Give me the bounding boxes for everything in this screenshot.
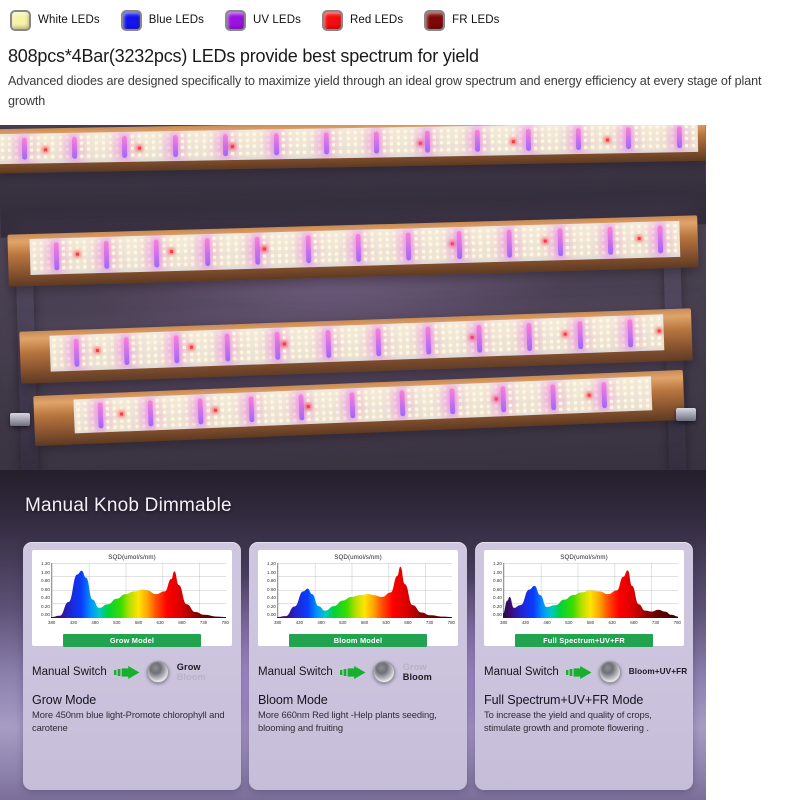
manual-switch-label: Manual Switch bbox=[258, 666, 333, 678]
uv-blue-glow-strip bbox=[299, 394, 305, 420]
y-tick-label: 1.00 bbox=[41, 571, 50, 576]
x-tick-label: 480 bbox=[543, 620, 550, 625]
uv-blue-glow-strip bbox=[273, 133, 278, 155]
x-tick-label: 480 bbox=[91, 620, 98, 625]
x-tick-label: 430 bbox=[522, 620, 529, 625]
x-tick-label: 780 bbox=[222, 620, 229, 625]
uv-blue-glow-strip bbox=[374, 131, 379, 153]
x-tick-label: 380 bbox=[274, 620, 281, 625]
led-swatch-fr bbox=[424, 10, 445, 31]
uv-blue-glow-strip bbox=[577, 321, 583, 349]
manual-switch-label: Manual Switch bbox=[32, 666, 107, 678]
y-tick-label: 0.00 bbox=[267, 613, 276, 618]
mode-card[interactable]: SQD(umol/s/nm)1.201.000.800.600.400.200.… bbox=[475, 542, 693, 790]
chart-x-axis: 380430480530580630680730780 bbox=[500, 620, 681, 625]
led-swatch-blue bbox=[121, 10, 142, 31]
uv-blue-glow-strip bbox=[248, 396, 254, 422]
mode-title: Bloom Mode bbox=[258, 693, 458, 707]
diode-array bbox=[73, 376, 652, 433]
uv-blue-glow-strip bbox=[525, 129, 530, 151]
uv-blue-glow-strip bbox=[224, 333, 230, 361]
led-bar bbox=[19, 308, 692, 383]
uv-blue-glow-strip bbox=[607, 227, 613, 255]
legend-item: UV LEDs bbox=[225, 10, 301, 31]
x-tick-label: 630 bbox=[157, 620, 164, 625]
page-title: 808pcs*4Bar(3232pcs) LEDs provide best s… bbox=[8, 46, 788, 67]
y-tick-label: 0.20 bbox=[41, 605, 50, 610]
x-tick-label: 580 bbox=[587, 620, 594, 625]
y-tick-label: 0.00 bbox=[493, 613, 502, 618]
uv-blue-glow-strip bbox=[73, 339, 79, 367]
y-tick-label: 1.20 bbox=[41, 562, 50, 567]
uv-blue-glow-strip bbox=[122, 136, 127, 158]
uv-blue-glow-strip bbox=[154, 239, 160, 267]
spectrum-chart: SQD(umol/s/nm)1.201.000.800.600.400.200.… bbox=[484, 550, 684, 646]
x-tick-label: 680 bbox=[404, 620, 411, 625]
uv-blue-glow-strip bbox=[425, 131, 430, 153]
chart-plot-area: 1.201.000.800.600.400.200.00380430480530… bbox=[261, 562, 455, 628]
x-tick-label: 380 bbox=[48, 620, 55, 625]
uv-blue-glow-strip bbox=[399, 390, 405, 416]
uv-blue-glow-strip bbox=[475, 130, 480, 152]
mode-description: To increase the yield and quality of cro… bbox=[484, 709, 684, 735]
x-tick-label: 580 bbox=[135, 620, 142, 625]
arrow-right-icon bbox=[566, 666, 592, 679]
knob-labels: Bloom+UV+FR bbox=[629, 667, 687, 676]
x-tick-label: 530 bbox=[339, 620, 346, 625]
y-tick-label: 0.20 bbox=[493, 605, 502, 610]
uv-blue-glow-strip bbox=[198, 398, 204, 424]
legend-item: White LEDs bbox=[10, 10, 100, 31]
uv-blue-glow-strip bbox=[174, 335, 180, 363]
mode-model-button[interactable]: Grow Model bbox=[63, 634, 201, 647]
uv-blue-glow-strip bbox=[626, 127, 631, 149]
x-tick-label: 730 bbox=[426, 620, 433, 625]
chart-x-axis: 380430480530580630680730780 bbox=[48, 620, 229, 625]
uv-blue-glow-strip bbox=[627, 319, 633, 347]
dimmer-knob[interactable] bbox=[373, 661, 395, 683]
diode-array bbox=[0, 125, 698, 164]
uv-blue-glow-strip bbox=[204, 238, 210, 266]
chart-title: SQD(umol/s/nm) bbox=[261, 554, 455, 561]
uv-blue-glow-strip bbox=[557, 228, 563, 256]
x-tick-label: 580 bbox=[361, 620, 368, 625]
uv-blue-glow-strip bbox=[507, 230, 513, 258]
legend-item-label: White LEDs bbox=[38, 14, 100, 26]
uv-blue-glow-strip bbox=[677, 126, 682, 148]
uv-blue-glow-strip bbox=[526, 323, 532, 351]
x-tick-label: 630 bbox=[609, 620, 616, 625]
y-tick-label: 0.20 bbox=[267, 605, 276, 610]
dimmer-knob[interactable] bbox=[147, 661, 169, 683]
mode-description: More 450nm blue light-Promote chlorophyl… bbox=[32, 709, 232, 735]
uv-blue-glow-strip bbox=[500, 386, 506, 412]
diode-array bbox=[49, 314, 664, 371]
y-tick-label: 0.00 bbox=[41, 613, 50, 618]
uv-blue-glow-strip bbox=[148, 400, 154, 426]
uv-blue-glow-strip bbox=[104, 241, 110, 269]
legend-item: Red LEDs bbox=[322, 10, 403, 31]
knob-labels: GrowBloom bbox=[403, 662, 432, 683]
uv-blue-glow-strip bbox=[658, 225, 664, 253]
uv-blue-glow-strip bbox=[275, 332, 281, 360]
x-tick-label: 730 bbox=[652, 620, 659, 625]
uv-blue-glow-strip bbox=[324, 132, 329, 154]
y-tick-label: 0.40 bbox=[41, 596, 50, 601]
y-tick-label: 1.20 bbox=[267, 562, 276, 567]
led-legend: White LEDsBlue LEDsUV LEDsRed LEDsFR LED… bbox=[0, 0, 800, 40]
x-tick-label: 480 bbox=[317, 620, 324, 625]
manual-knob-dimmable-section: Manual Knob Dimmable SQD(umol/s/nm)1.201… bbox=[0, 470, 706, 800]
chart-x-axis: 380430480530580630680730780 bbox=[274, 620, 455, 625]
y-tick-label: 0.80 bbox=[267, 579, 276, 584]
legend-item-label: FR LEDs bbox=[452, 14, 499, 26]
knob-label-bloom: Bloom bbox=[403, 672, 432, 682]
chart-plot-area: 1.201.000.800.600.400.200.00380430480530… bbox=[35, 562, 229, 628]
uv-blue-glow-strip bbox=[375, 328, 381, 356]
led-swatch-red bbox=[322, 10, 343, 31]
uv-blue-glow-strip bbox=[550, 384, 556, 410]
mode-card[interactable]: SQD(umol/s/nm)1.201.000.800.600.400.200.… bbox=[23, 542, 241, 790]
uv-blue-glow-strip bbox=[97, 402, 103, 428]
uv-blue-glow-strip bbox=[456, 231, 462, 259]
knob-label-grow: Grow bbox=[177, 662, 206, 672]
x-tick-label: 430 bbox=[70, 620, 77, 625]
legend-item-label: Blue LEDs bbox=[149, 14, 204, 26]
mode-card[interactable]: SQD(umol/s/nm)1.201.000.800.600.400.200.… bbox=[249, 542, 467, 790]
mode-title: Grow Mode bbox=[32, 693, 232, 707]
mode-cards-list: SQD(umol/s/nm)1.201.000.800.600.400.200.… bbox=[23, 542, 693, 790]
legend-item: FR LEDs bbox=[424, 10, 499, 31]
arrow-right-icon bbox=[114, 666, 140, 679]
uv-blue-glow-strip bbox=[426, 326, 432, 354]
y-tick-label: 1.20 bbox=[493, 562, 502, 567]
arrow-right-icon bbox=[340, 666, 366, 679]
y-tick-label: 0.40 bbox=[267, 596, 276, 601]
x-tick-label: 780 bbox=[448, 620, 455, 625]
section-title: Manual Knob Dimmable bbox=[25, 495, 232, 517]
chart-y-axis: 1.201.000.800.600.400.200.00 bbox=[35, 562, 50, 618]
knob-label-active: Bloom+UV+FR bbox=[629, 667, 687, 676]
y-tick-label: 0.60 bbox=[493, 588, 502, 593]
led-panel bbox=[49, 314, 664, 371]
y-tick-label: 1.00 bbox=[267, 571, 276, 576]
uv-blue-glow-strip bbox=[72, 137, 77, 159]
spectrum-curve bbox=[503, 563, 678, 618]
mode-description: More 660nm Red light -Help plants seedin… bbox=[258, 709, 458, 735]
mode-model-button[interactable]: Full Spectrum+UV+FR bbox=[515, 634, 653, 647]
y-tick-label: 0.80 bbox=[41, 579, 50, 584]
y-tick-label: 0.60 bbox=[41, 588, 50, 593]
x-tick-label: 730 bbox=[200, 620, 207, 625]
product-image bbox=[0, 125, 706, 470]
uv-blue-glow-strip bbox=[576, 128, 581, 150]
x-tick-label: 680 bbox=[630, 620, 637, 625]
page-subtitle: Advanced diodes are designed specificall… bbox=[8, 72, 790, 111]
uv-blue-glow-strip bbox=[450, 388, 456, 414]
chart-y-axis: 1.201.000.800.600.400.200.00 bbox=[487, 562, 502, 618]
uv-blue-glow-strip bbox=[356, 234, 362, 262]
chart-title: SQD(umol/s/nm) bbox=[487, 554, 681, 561]
x-tick-label: 530 bbox=[113, 620, 120, 625]
manual-switch-row: Manual SwitchGrowBloom bbox=[32, 659, 232, 685]
y-tick-label: 0.40 bbox=[493, 596, 502, 601]
legend-item: Blue LEDs bbox=[121, 10, 204, 31]
uv-blue-glow-strip bbox=[601, 382, 607, 408]
mode-model-button[interactable]: Bloom Model bbox=[289, 634, 427, 647]
manual-switch-row: Manual SwitchGrowBloom bbox=[258, 659, 458, 685]
knob-labels: GrowBloom bbox=[177, 662, 206, 683]
legend-item-label: Red LEDs bbox=[350, 14, 403, 26]
hanger-bracket bbox=[676, 408, 696, 421]
x-tick-label: 780 bbox=[674, 620, 681, 625]
x-tick-label: 430 bbox=[296, 620, 303, 625]
x-tick-label: 630 bbox=[383, 620, 390, 625]
mode-title: Full Spectrum+UV+FR Mode bbox=[484, 693, 684, 707]
uv-blue-glow-strip bbox=[255, 237, 261, 265]
spectrum-chart: SQD(umol/s/nm)1.201.000.800.600.400.200.… bbox=[32, 550, 232, 646]
led-swatch-uv bbox=[225, 10, 246, 31]
dimmer-knob[interactable] bbox=[599, 661, 621, 683]
legend-item-label: UV LEDs bbox=[253, 14, 301, 26]
uv-blue-glow-strip bbox=[21, 138, 26, 160]
spectrum-chart: SQD(umol/s/nm)1.201.000.800.600.400.200.… bbox=[258, 550, 458, 646]
chart-y-axis: 1.201.000.800.600.400.200.00 bbox=[261, 562, 276, 618]
y-tick-label: 1.00 bbox=[493, 571, 502, 576]
x-tick-label: 680 bbox=[178, 620, 185, 625]
x-tick-label: 530 bbox=[565, 620, 572, 625]
y-tick-label: 0.60 bbox=[267, 588, 276, 593]
led-swatch-white bbox=[10, 10, 31, 31]
uv-blue-glow-strip bbox=[124, 337, 130, 365]
uv-blue-glow-strip bbox=[406, 232, 412, 260]
uv-blue-glow-strip bbox=[53, 242, 59, 270]
uv-blue-glow-strip bbox=[325, 330, 331, 358]
knob-label-bloom: Bloom bbox=[177, 672, 206, 682]
uv-blue-glow-strip bbox=[476, 325, 482, 353]
uv-blue-glow-strip bbox=[223, 134, 228, 156]
y-tick-label: 0.80 bbox=[493, 579, 502, 584]
knob-label-grow: Grow bbox=[403, 662, 432, 672]
chart-title: SQD(umol/s/nm) bbox=[35, 554, 229, 561]
chart-plot-area: 1.201.000.800.600.400.200.00380430480530… bbox=[487, 562, 681, 628]
led-panel bbox=[0, 125, 698, 164]
spectrum-curve bbox=[277, 563, 452, 618]
uv-blue-glow-strip bbox=[305, 235, 311, 263]
x-tick-label: 380 bbox=[500, 620, 507, 625]
uv-blue-glow-strip bbox=[349, 392, 355, 418]
led-panel bbox=[73, 376, 652, 433]
hanger-bracket bbox=[10, 413, 30, 426]
led-bar bbox=[33, 370, 684, 446]
uv-blue-glow-strip bbox=[173, 135, 178, 157]
manual-switch-row: Manual SwitchBloom+UV+FR bbox=[484, 659, 684, 685]
manual-switch-label: Manual Switch bbox=[484, 666, 559, 678]
spectrum-curve bbox=[51, 563, 226, 618]
